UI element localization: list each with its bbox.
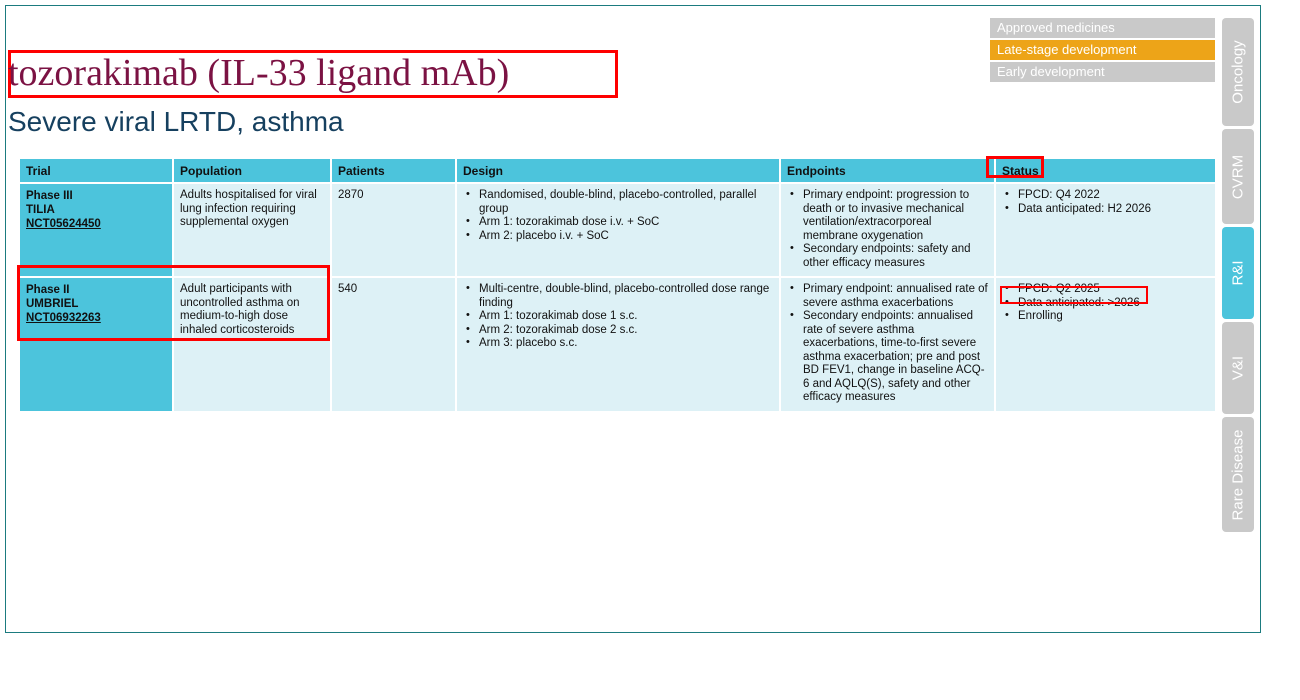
list-item: Arm 1: tozorakimab dose i.v. + SoC [463,216,773,230]
list-item: Arm 2: tozorakimab dose 2 s.c. [463,324,773,338]
list-item: Randomised, double-blind, placebo-contro… [463,189,773,216]
page-title: tozorakimab (IL-33 ligand mAb) [8,48,648,98]
cell-design: Multi-centre, double-blind, placebo-cont… [457,278,779,411]
trial-nct-link[interactable]: NCT06932263 [26,311,166,325]
sidebar-item-label: V&I [1230,356,1247,380]
cell-status: FPCD: Q2 2025 Data anticipated: >2026 En… [996,278,1215,411]
legend-item-early-development[interactable]: Early development [990,62,1215,82]
cell-population: Adults hospitalised for viral lung infec… [174,184,330,276]
column-header-population[interactable]: Population [174,159,330,182]
sidebar-item-label: CVRM [1230,154,1247,198]
table-row: Phase II UMBRIEL NCT06932263 Adult parti… [20,278,1215,411]
sidebar-item-vni[interactable]: V&I [1222,322,1254,414]
cell-patients: 540 [332,278,455,411]
sidebar-item-cvrm[interactable]: CVRM [1222,129,1254,224]
list-item: FPCD: Q2 2025 [1002,283,1209,297]
therapy-area-tab-rail: Oncology CVRM R&I V&I Rare Disease [1222,18,1254,535]
cell-trial: Phase II UMBRIEL NCT06932263 [20,278,172,411]
legend-item-approved-medicines[interactable]: Approved medicines [990,18,1215,38]
sidebar-item-label: R&I [1230,260,1247,285]
cell-design: Randomised, double-blind, placebo-contro… [457,184,779,276]
list-item: Secondary endpoints: safety and other ef… [787,243,988,270]
list-item: Enrolling [1002,310,1209,324]
sidebar-item-label: Oncology [1230,40,1247,103]
list-item: Arm 1: tozorakimab dose 1 s.c. [463,310,773,324]
legend-item-late-stage-development[interactable]: Late-stage development [990,40,1215,60]
development-stage-legend: Approved medicines Late-stage developmen… [990,18,1215,84]
trial-phase: Phase II [26,283,166,297]
list-item: Data anticipated: >2026 [1002,297,1209,311]
cell-endpoints: Primary endpoint: annualised rate of sev… [781,278,994,411]
column-header-status[interactable]: Status [996,159,1215,182]
table-header-row: Trial Population Patients Design Endpoin… [20,159,1215,182]
sidebar-item-rni[interactable]: R&I [1222,227,1254,319]
cell-trial: Phase III TILIA NCT05624450 [20,184,172,276]
list-item: Data anticipated: H2 2026 [1002,203,1209,217]
trial-nct-link[interactable]: NCT05624450 [26,217,166,231]
list-item: FPCD: Q4 2022 [1002,189,1209,203]
list-item: Multi-centre, double-blind, placebo-cont… [463,283,773,310]
sidebar-item-rare-disease[interactable]: Rare Disease [1222,417,1254,532]
list-item: Primary endpoint: progression to death o… [787,189,988,243]
column-header-design[interactable]: Design [457,159,779,182]
page-subtitle: Severe viral LRTD, asthma [8,104,344,140]
cell-patients: 2870 [332,184,455,276]
list-item: Primary endpoint: annualised rate of sev… [787,283,988,310]
clinical-trials-table: Trial Population Patients Design Endpoin… [18,157,1217,413]
trial-phase: Phase III [26,189,166,203]
list-item: Secondary endpoints: annualised rate of … [787,310,988,405]
trial-name: TILIA [26,203,166,217]
sidebar-item-oncology[interactable]: Oncology [1222,18,1254,126]
column-header-patients[interactable]: Patients [332,159,455,182]
table-row: Phase III TILIA NCT05624450 Adults hospi… [20,184,1215,276]
cell-status: FPCD: Q4 2022 Data anticipated: H2 2026 [996,184,1215,276]
list-item: Arm 3: placebo s.c. [463,337,773,351]
trial-name: UMBRIEL [26,297,166,311]
column-header-trial[interactable]: Trial [20,159,172,182]
cell-population: Adult participants with uncontrolled ast… [174,278,330,411]
cell-endpoints: Primary endpoint: progression to death o… [781,184,994,276]
list-item: Arm 2: placebo i.v. + SoC [463,230,773,244]
sidebar-item-label: Rare Disease [1230,429,1247,520]
column-header-endpoints[interactable]: Endpoints [781,159,994,182]
